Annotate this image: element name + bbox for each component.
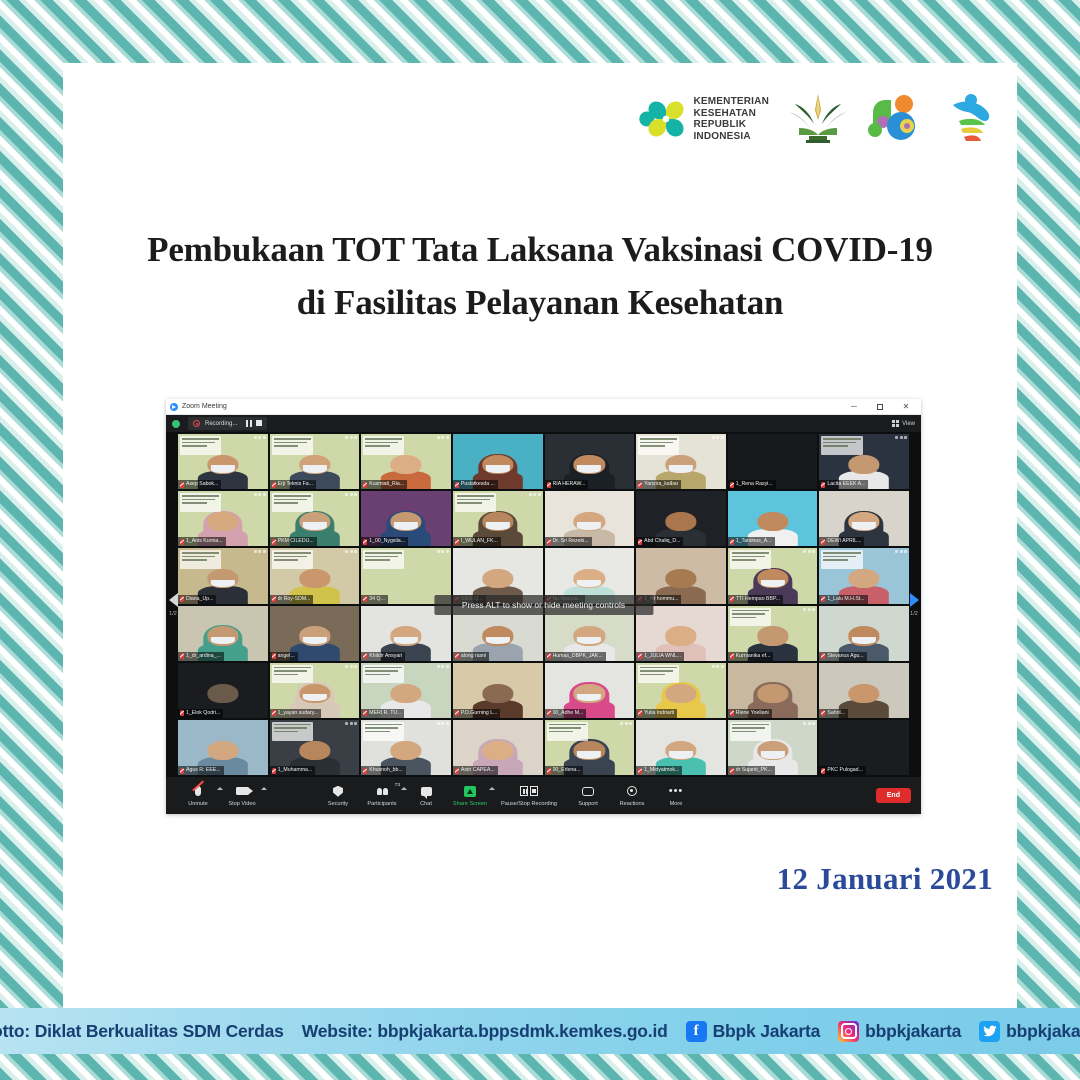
event-date: 12 Januari 2021 — [777, 861, 993, 897]
microphone-muted-icon — [547, 710, 551, 716]
participant-nametag: Kurnianika ef... — [728, 652, 774, 661]
tile-corner-icons — [437, 550, 449, 553]
microphone-muted-icon — [363, 482, 367, 488]
microphone-muted-icon — [730, 596, 734, 602]
microphone-muted-icon — [180, 539, 184, 545]
participant-name: Diana_Up... — [186, 595, 213, 604]
kemenkes-line-1: KEMENTERIAN — [693, 96, 769, 108]
germas-logo-icon — [947, 91, 995, 147]
virtual-background-banner — [272, 436, 313, 455]
tile-corner-icons — [437, 436, 449, 439]
zoom-app-icon — [170, 403, 178, 411]
twitter-handle[interactable]: bbpkjakarta — [979, 1021, 1080, 1042]
virtual-background-banner — [363, 665, 404, 684]
tile-corner-icons — [254, 493, 266, 496]
microphone-muted-icon — [821, 596, 825, 602]
tile-corner-icons — [895, 436, 907, 439]
microphone-muted-icon — [272, 539, 276, 545]
participant-name: 1_00_Nygsila... — [369, 537, 405, 546]
reactions-icon — [627, 786, 637, 796]
participant-nametag: I_WULAN_FK... — [453, 537, 501, 546]
microphone-muted-icon — [455, 482, 459, 488]
share-screen-label: Share Screen — [453, 801, 487, 807]
microphone-muted-icon — [363, 596, 367, 602]
participant-name: 1_Muhamma... — [278, 766, 313, 775]
participant-tile[interactable]: 1_Rena Rasyi... — [728, 434, 818, 489]
participants-count-badge: 73 — [395, 783, 400, 788]
participant-name: 1_Anis Kurnia... — [186, 537, 223, 546]
tile-corner-icons — [345, 550, 357, 553]
title-line-1: Pembukaan TOT Tata Laksana Vaksinasi COV… — [63, 223, 1017, 276]
motto-text: Motto: Diklat Berkualitas SDM Cerdas — [0, 1021, 284, 1042]
microphone-muted-icon — [821, 653, 825, 659]
microphone-muted-icon — [638, 482, 642, 488]
participants-label: Participants — [367, 801, 396, 807]
participant-nametag: Khildir Ansyari — [361, 652, 405, 661]
bbpk-logo-icon — [867, 92, 929, 147]
microphone-muted-icon — [272, 653, 276, 659]
participant-name: Astri CAPEA... — [461, 766, 495, 775]
more-button[interactable]: ••• More — [654, 784, 698, 807]
camera-icon — [236, 787, 249, 795]
virtual-background-banner — [363, 722, 404, 741]
end-meeting-button[interactable]: End — [876, 788, 911, 803]
support-button[interactable]: Support — [566, 784, 610, 807]
reactions-label: Reactions — [620, 801, 645, 807]
participant-tile[interactable]: Kusmiati_Ria... — [361, 434, 451, 489]
participant-nametag: DEWI APRIL... — [819, 537, 864, 546]
previous-page-button[interactable]: 1/2 — [167, 593, 179, 617]
microphone-muted-icon — [730, 482, 734, 488]
microphone-muted-icon — [730, 539, 734, 545]
participant-nametag: Riene Yoeliani — [728, 709, 772, 718]
page-title: Pembukaan TOT Tata Laksana Vaksinasi COV… — [63, 223, 1017, 329]
participant-nametag: TTI Hempao BBP... — [728, 595, 783, 604]
instagram-label: bbpkjakarta — [865, 1021, 961, 1042]
participant-nametag: 1_00_Nygsila... — [361, 537, 408, 546]
participant-name: Stevanus Agu... — [827, 652, 863, 661]
participant-name: 1_Rena Rasyi... — [736, 480, 773, 489]
microphone-muted-icon — [547, 482, 551, 488]
record-icon — [193, 420, 200, 427]
microphone-muted-icon — [455, 653, 459, 659]
footer-banner: Motto: Diklat Berkualitas SDM Cerdas Web… — [0, 1008, 1080, 1054]
participant-nametag: along rasni — [453, 652, 489, 661]
participant-tile[interactable]: P.D.Gurning L... — [453, 663, 543, 718]
tut-wuri-handayani-logo-icon — [787, 90, 849, 148]
tile-corner-icons — [803, 550, 815, 553]
virtual-background-banner — [730, 550, 771, 569]
participant-nametag: RIA HERAW... — [545, 480, 589, 489]
virtual-background-banner — [455, 493, 496, 512]
microphone-muted-icon — [730, 768, 734, 774]
share-screen-icon — [464, 786, 476, 797]
participant-tile[interactable]: dr Sujanti_PK... — [728, 720, 818, 775]
participant-name: 34 Q... — [369, 595, 385, 604]
microphone-muted-icon — [821, 768, 825, 774]
participant-nametag: Kusmiati_Ria... — [361, 480, 407, 489]
participant-nametag: Dr. Sri Rezeki... — [545, 537, 592, 546]
kemenkes-logo: KEMENTERIAN KESEHATAN REPUBLIK INDONESIA — [636, 93, 769, 145]
white-card: KEMENTERIAN KESEHATAN REPUBLIK INDONESIA — [63, 63, 1017, 1017]
microphone-muted-icon — [272, 710, 276, 716]
microphone-muted-icon — [363, 710, 367, 716]
participant-tile[interactable]: Sahril... — [819, 663, 909, 718]
participant-name: Lacita EEEK A... — [827, 480, 865, 489]
microphone-muted-icon — [821, 539, 825, 545]
alt-hint-overlay: Press ALT to show or hide meeting contro… — [434, 595, 653, 615]
participant-tile[interactable]: Astri CAPEA... — [453, 720, 543, 775]
virtual-background-banner — [180, 436, 221, 455]
participants-button[interactable]: 73 Participants — [360, 784, 404, 807]
participant-name: 1_Elok Qodri... — [186, 709, 220, 718]
virtual-background-banner — [272, 665, 313, 684]
participant-name: PKM CILEDU... — [278, 537, 314, 546]
more-label: More — [670, 801, 683, 807]
instagram-handle[interactable]: bbpkjakarta — [838, 1021, 961, 1042]
participant-nametag: Humas_DBPK_JAK... — [545, 652, 606, 661]
participant-name: 1_dr_ardina_... — [186, 652, 221, 661]
participant-nametag: Yulia Indriarti — [636, 709, 677, 718]
security-label: Security — [328, 801, 348, 807]
microphone-muted-icon — [638, 768, 642, 774]
microphone-muted-icon — [638, 653, 642, 659]
recording-indicator: Recording... — [188, 417, 267, 430]
kemenkes-mark-icon — [636, 93, 686, 145]
stop-video-button[interactable]: Stop Video — [220, 784, 264, 807]
virtual-background-banner — [272, 722, 313, 741]
recording-bar: Recording... View — [166, 415, 921, 432]
twitter-label: bbpkjakarta — [1006, 1021, 1080, 1042]
participant-tile[interactable]: RIA HERAW... — [545, 434, 635, 489]
meeting-toolbar: Unmute Stop Video Security 73 Participan… — [166, 777, 921, 814]
pause-recording-icon[interactable] — [246, 420, 252, 427]
participant-nametag: Lacita EEEK A... — [819, 480, 868, 489]
microphone-muted-icon — [638, 710, 642, 716]
participant-name: 00_Adhe M... — [553, 709, 584, 718]
participant-name: dr Sujanti_PK... — [736, 766, 772, 775]
twitter-icon — [979, 1021, 1000, 1042]
microphone-muted-icon — [363, 653, 367, 659]
virtual-background-banner — [638, 665, 679, 684]
window-title-bar: Zoom Meeting ─ ✕ — [166, 399, 921, 415]
window-title: Zoom Meeting — [182, 403, 227, 410]
participant-name: Yulia Indriarti — [644, 709, 674, 718]
participant-tile[interactable]: 1_dr_ardina_... — [178, 606, 268, 661]
virtual-background-banner — [363, 550, 404, 569]
participant-nametag: Asep Sabok... — [178, 480, 221, 489]
participant-nametag: Stevanus Agu... — [819, 652, 866, 661]
virtual-background-banner — [180, 550, 221, 569]
microphone-muted-icon — [272, 482, 276, 488]
participant-nametag: Agus R: EEE... — [178, 766, 224, 775]
participant-figure — [381, 569, 431, 603]
chevron-right-icon — [910, 593, 919, 607]
website-text: Website: bbpkjakarta.bppsdmk.kemkes.go.i… — [302, 1021, 668, 1042]
participant-tile[interactable]: 1_00_Nygsila... — [361, 491, 451, 546]
minimize-button[interactable]: ─ — [841, 399, 867, 414]
microphone-muted-icon — [363, 539, 367, 545]
participant-nametag: 00_Adhe M... — [545, 709, 587, 718]
participant-name: Puslatkesda ... — [461, 480, 495, 489]
participant-name: along rasni — [461, 652, 486, 661]
microphone-muted-icon — [180, 596, 184, 602]
microphone-muted-icon — [455, 539, 459, 545]
microphone-muted-icon — [272, 768, 276, 774]
virtual-background-banner — [547, 722, 588, 741]
page-indicator-left: 1/2 — [169, 611, 177, 617]
participant-name: Asep Sabok... — [186, 480, 218, 489]
microphone-muted-icon — [180, 482, 184, 488]
microphone-muted-icon — [180, 768, 184, 774]
participant-name: 1_JULIA WNL... — [644, 652, 681, 661]
page-indicator-right: 1/2 — [910, 611, 918, 617]
microphone-muted-icon — [547, 653, 551, 659]
participant-tile[interactable]: Yulia Indriarti — [636, 663, 726, 718]
facebook-handle[interactable]: f Bbpk Jakarta — [686, 1021, 821, 1042]
participant-nametag: 34 Q... — [361, 595, 388, 604]
kemenkes-line-4: INDONESIA — [693, 131, 769, 143]
microphone-muted-icon — [195, 786, 201, 796]
participant-name: 1_Midyatmok... — [644, 766, 679, 775]
participant-tile[interactable]: Lacita EEEK A... — [819, 434, 909, 489]
unmute-button[interactable]: Unmute — [176, 784, 220, 807]
participant-name: I_WULAN_FK... — [461, 537, 498, 546]
reactions-button[interactable]: Reactions — [610, 784, 654, 807]
tile-corner-icons — [345, 665, 357, 668]
participant-tile[interactable]: 1_yayan sudary... — [270, 663, 360, 718]
participant-tile[interactable]: 1_Tarsinus_A... — [728, 491, 818, 546]
participant-tile[interactable]: DEWI APRIL... — [819, 491, 909, 546]
participant-tile[interactable]: Stevanus Agu... — [819, 606, 909, 661]
participant-tile[interactable]: Diana_Up... — [178, 548, 268, 603]
tile-corner-icons — [437, 665, 449, 668]
participant-name: 1_Lalu M.H.St... — [827, 595, 864, 604]
support-label: Support — [578, 801, 598, 807]
tile-corner-icons — [529, 493, 541, 496]
participant-name: Kurnianika ef... — [736, 652, 771, 661]
pause-stop-recording-icon — [520, 786, 538, 796]
microphone-muted-icon — [272, 596, 276, 602]
close-button[interactable]: ✕ — [893, 399, 919, 414]
virtual-background-banner — [272, 493, 313, 512]
participant-nametag: Yanzira_kalbar — [636, 480, 681, 489]
participant-name: Sahril... — [827, 709, 845, 718]
participant-tile[interactable]: Puslatkesda ... — [453, 434, 543, 489]
microphone-muted-icon — [547, 539, 551, 545]
tile-corner-icons — [254, 550, 266, 553]
virtual-background-banner — [730, 722, 771, 741]
participant-name: 1_Tarsinus_A... — [736, 537, 772, 546]
virtual-background-banner — [638, 436, 679, 455]
participant-name: angel... — [278, 652, 295, 661]
participant-name: DEWI APRIL... — [827, 537, 861, 546]
participant-nametag: 1_Tarsinus_A... — [728, 537, 775, 546]
tile-corner-icons — [345, 493, 357, 496]
participant-tile[interactable]: MERI R. TU... — [361, 663, 451, 718]
instagram-icon — [838, 1021, 859, 1042]
support-icon — [582, 787, 594, 796]
more-icon: ••• — [669, 787, 684, 795]
participant-tile[interactable]: I_WULAN_FK... — [453, 491, 543, 546]
stop-video-label: Stop Video — [228, 801, 255, 807]
participant-nametag: 1_dr_ardina_... — [178, 652, 224, 661]
virtual-background-banner — [730, 608, 771, 627]
participant-name: PKC Pulogad... — [827, 766, 862, 775]
microphone-muted-icon — [180, 710, 184, 716]
microphone-muted-icon — [821, 710, 825, 716]
participant-nametag: 1_JULIA WNL... — [636, 652, 684, 661]
virtual-background-banner — [821, 436, 862, 455]
microphone-muted-icon — [455, 710, 459, 716]
next-page-button[interactable]: 1/2 — [908, 593, 920, 617]
participant-name: Agus R: EEE... — [186, 766, 221, 775]
chat-label: Chat — [420, 801, 432, 807]
participants-icon — [377, 788, 388, 795]
participant-name: Khildir Ansyari — [369, 652, 402, 661]
chat-icon — [421, 787, 432, 796]
participant-tile[interactable]: Abd Chaliq_D... — [636, 491, 726, 546]
participant-nametag: Puslatkesda ... — [453, 480, 498, 489]
participant-nametag: 00_Erlena... — [545, 766, 584, 775]
participant-name: 1_yayan sudary... — [278, 709, 319, 718]
microphone-muted-icon — [180, 653, 184, 659]
virtual-background-banner — [272, 550, 313, 569]
title-line-2: di Fasilitas Pelayanan Kesehatan — [63, 276, 1017, 329]
participant-nametag: Abd Chaliq_D... — [636, 537, 683, 546]
logo-row: KEMENTERIAN KESEHATAN REPUBLIK INDONESIA — [636, 79, 995, 159]
participant-nametag: dr Sujanti_PK... — [728, 766, 775, 775]
participant-tile[interactable]: Khusnoh_bb... — [361, 720, 451, 775]
participant-tile[interactable]: 1_Anis Kurnia... — [178, 491, 268, 546]
virtual-background-banner — [363, 436, 404, 455]
participant-tile[interactable]: 00_Erlena... — [545, 720, 635, 775]
participant-nametag: 1_yayan sudary... — [270, 709, 322, 718]
participant-tile[interactable]: 1_Midyatmok... — [636, 720, 726, 775]
participant-nametag: PKC Pulogad... — [819, 766, 865, 775]
security-button[interactable]: Security — [316, 784, 360, 807]
tile-corner-icons — [803, 608, 815, 611]
maximize-button[interactable] — [867, 399, 893, 414]
participant-name: Kusmiati_Ria... — [369, 480, 404, 489]
poster-canvas: KEMENTERIAN KESEHATAN REPUBLIK INDONESIA — [0, 0, 1080, 1080]
facebook-icon: f — [686, 1021, 707, 1042]
participant-name: TTI Hempao BBP... — [736, 595, 780, 604]
participant-name: 00_Erlena... — [553, 766, 581, 775]
participant-nametag: 1_Midyatmok... — [636, 766, 682, 775]
participant-nametag: Khusnoh_bb... — [361, 766, 405, 775]
participant-name: RIA HERAW... — [553, 480, 586, 489]
kemenkes-line-2: KESEHATAN — [693, 108, 769, 120]
microphone-muted-icon — [821, 482, 825, 488]
maximize-icon — [877, 404, 883, 410]
unmute-label: Unmute — [188, 801, 208, 807]
video-stage: Asep Sabok...Erji Teknis Fa...Kusmiati_R… — [166, 432, 921, 777]
participant-nametag: 1_Rena Rasyi... — [728, 480, 776, 489]
participant-tile[interactable]: 1_Elok Qodri... — [178, 663, 268, 718]
microphone-muted-icon — [455, 768, 459, 774]
tile-corner-icons — [620, 722, 632, 725]
participant-name: MERI R. TU... — [369, 709, 401, 718]
participant-tile[interactable]: angel... — [270, 606, 360, 661]
participant-nametag: Diana_Up... — [178, 595, 216, 604]
participant-tile[interactable]: Agus R: EEE... — [178, 720, 268, 775]
participant-tile[interactable]: Riene Yoeliani — [728, 663, 818, 718]
tile-corner-icons — [345, 436, 357, 439]
participant-tile[interactable]: Dr. Sri Rezeki... — [545, 491, 635, 546]
participant-nametag: 1_Elok Qodri... — [178, 709, 223, 718]
view-label: View — [902, 421, 915, 427]
participant-tile[interactable]: Yanzira_kalbar — [636, 434, 726, 489]
participant-nametag: angel... — [270, 652, 298, 661]
recording-label: Recording... — [205, 421, 237, 427]
kemenkes-wordmark: KEMENTERIAN KESEHATAN REPUBLIK INDONESIA — [693, 96, 769, 142]
pause-stop-recording-button[interactable]: Pause/Stop Recording — [492, 784, 566, 807]
participant-nametag: Sahril... — [819, 709, 848, 718]
participant-tile[interactable]: dr Roy-SDM... — [270, 548, 360, 603]
zoom-meeting-window: Zoom Meeting ─ ✕ Recording... — [166, 399, 921, 814]
microphone-muted-icon — [638, 539, 642, 545]
kemenkes-line-3: REPUBLIK — [693, 119, 769, 131]
participant-tile[interactable]: 1_Muhamma... — [270, 720, 360, 775]
share-screen-button[interactable]: Share Screen — [448, 784, 492, 807]
tile-corner-icons — [345, 722, 357, 725]
participant-tile[interactable]: Kurnianika ef... — [728, 606, 818, 661]
participant-nametag: MERI R. TU... — [361, 709, 404, 718]
tile-corner-icons — [712, 665, 724, 668]
participant-tile[interactable]: PKM CILEDU... — [270, 491, 360, 546]
microphone-muted-icon — [730, 653, 734, 659]
stop-recording-icon[interactable] — [256, 420, 262, 426]
grid-view-icon — [892, 420, 899, 427]
view-button[interactable]: View — [892, 420, 915, 427]
video-options-chevron-icon[interactable] — [261, 787, 267, 790]
participant-nametag: dr Roy-SDM... — [270, 595, 314, 604]
participant-nametag: 1_Anis Kurnia... — [178, 537, 226, 546]
participant-nametag: 1_Lalu M.H.St... — [819, 595, 867, 604]
participant-tile[interactable]: 1_Lalu M.H.St... — [819, 548, 909, 603]
participant-name: Erji Teknis Fa... — [278, 480, 313, 489]
participant-name: Khusnoh_bb... — [369, 766, 402, 775]
facebook-label: Bbpk Jakarta — [713, 1021, 821, 1042]
chevron-left-icon — [169, 593, 178, 607]
participant-name: Humas_DBPK_JAK... — [553, 652, 603, 661]
chat-button[interactable]: Chat — [404, 784, 448, 807]
participant-nametag: Astri CAPEA... — [453, 766, 498, 775]
participant-tile[interactable]: Erji Teknis Fa... — [270, 434, 360, 489]
participant-tile[interactable]: 00_Adhe M... — [545, 663, 635, 718]
participant-tile[interactable]: PKC Pulogad... — [819, 720, 909, 775]
virtual-background-banner — [821, 550, 862, 569]
participant-name: Abd Chaliq_D... — [644, 537, 680, 546]
pause-stop-recording-label: Pause/Stop Recording — [501, 801, 557, 807]
tile-corner-icons — [254, 436, 266, 439]
participant-nametag: PKM CILEDU... — [270, 537, 317, 546]
participant-tile[interactable]: Asep Sabok... — [178, 434, 268, 489]
microphone-muted-icon — [363, 768, 367, 774]
tile-corner-icons — [895, 550, 907, 553]
tile-corner-icons — [803, 722, 815, 725]
virtual-background-banner — [180, 493, 221, 512]
tile-corner-icons — [712, 436, 724, 439]
participant-nametag: 1_Muhamma... — [270, 766, 316, 775]
tile-corner-icons — [437, 722, 449, 725]
participant-name: Yanzira_kalbar — [644, 480, 678, 489]
shield-icon — [333, 786, 343, 797]
participant-tile[interactable]: TTI Hempao BBP... — [728, 548, 818, 603]
participant-name: dr Roy-SDM... — [278, 595, 311, 604]
connection-status-icon — [172, 420, 180, 428]
